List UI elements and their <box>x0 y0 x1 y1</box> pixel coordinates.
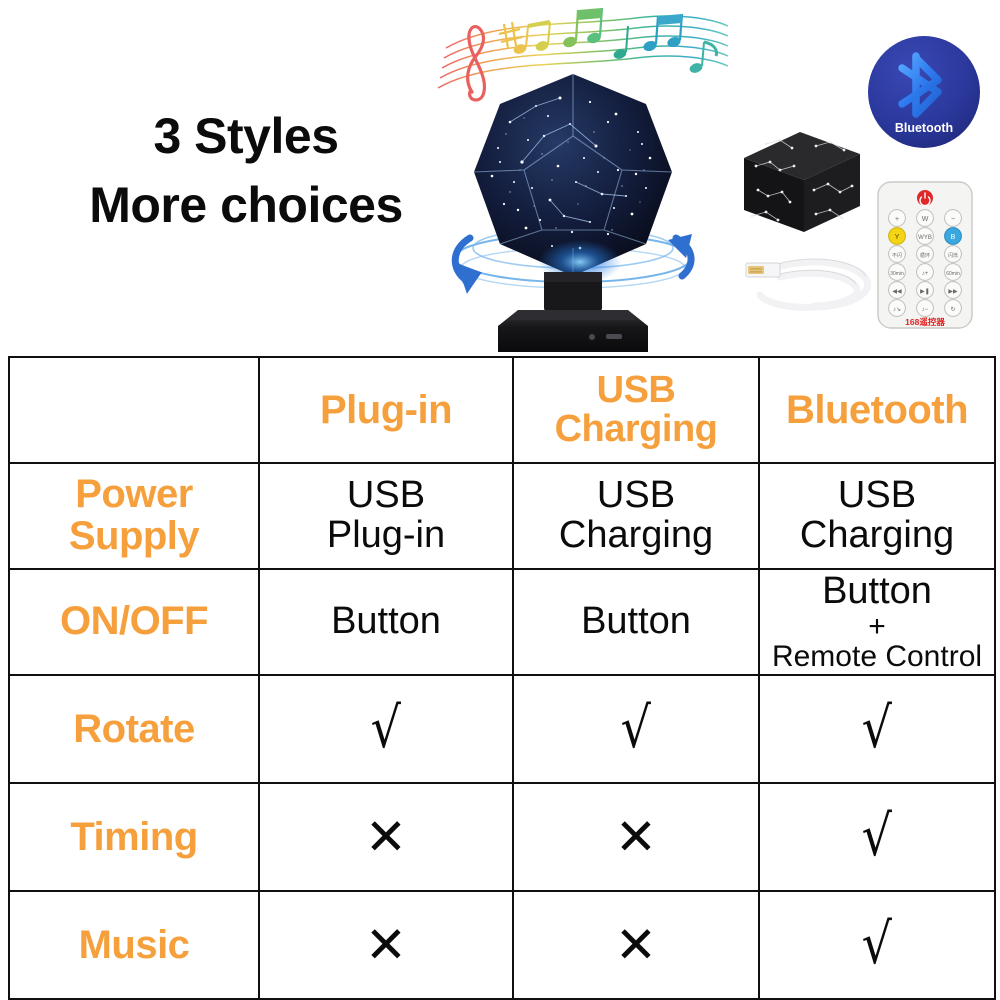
svg-text:−: − <box>951 216 955 223</box>
table-row-power-supply: Power Supply USB Plug-in USB Charging US… <box>9 463 995 569</box>
cell-power-plugin-line1: USB <box>264 476 508 516</box>
column-header-usb-charging-line1: USB <box>518 371 754 410</box>
remote-control: + W − Y WYB B 不闪 循环 闪烁 30min ♪+ 60min ◀◀… <box>872 180 978 332</box>
row-label-on-off-text: ON/OFF <box>60 599 208 643</box>
check-icon: √ <box>371 701 401 757</box>
hero-banner: 3 Styles More choices <box>0 0 1000 352</box>
headline-line-2: More choices <box>46 171 446 240</box>
check-icon: √ <box>862 917 892 973</box>
comparison-table: Plug-in USB Charging Bluetooth Power Sup… <box>8 356 996 1000</box>
svg-text:◀◀: ◀◀ <box>892 289 902 295</box>
row-label-timing-text: Timing <box>70 815 197 859</box>
svg-text:168遥控器: 168遥控器 <box>905 317 945 327</box>
cell-onoff-bt-line1: Button <box>764 572 990 612</box>
cross-icon: ✕ <box>615 920 657 970</box>
constellation-gift-box <box>736 124 868 242</box>
svg-text:♪+: ♪+ <box>922 271 929 277</box>
check-icon: √ <box>862 809 892 865</box>
cell-rotate-usb-charging: √ <box>513 675 759 783</box>
svg-text:♪↘: ♪↘ <box>893 307 901 313</box>
star-projector-lamp <box>440 62 706 352</box>
svg-text:60min: 60min <box>946 271 960 277</box>
cell-power-supply-usb-charging: USB Charging <box>513 463 759 569</box>
check-icon: √ <box>862 701 892 757</box>
svg-text:WYB: WYB <box>918 235 932 241</box>
table-row-rotate: Rotate √ √ √ <box>9 675 995 783</box>
cell-power-supply-plug-in: USB Plug-in <box>259 463 513 569</box>
svg-text:W: W <box>922 216 929 223</box>
column-header-bluetooth-label: Bluetooth <box>786 388 968 432</box>
cell-on-off-usb-charging: Button <box>513 569 759 675</box>
row-label-rotate-text: Rotate <box>73 707 194 751</box>
check-icon: √ <box>621 701 651 757</box>
column-header-usb-charging-line2: Charging <box>518 410 754 449</box>
svg-text:▶❚: ▶❚ <box>920 288 930 295</box>
cell-power-supply-bluetooth: USB Charging <box>759 463 995 569</box>
table-row-timing: Timing ✕ ✕ √ <box>9 783 995 891</box>
svg-text:不闪: 不闪 <box>892 252 902 259</box>
cell-timing-bluetooth: √ <box>759 783 995 891</box>
row-label-timing: Timing <box>9 783 259 891</box>
cell-timing-plug-in: ✕ <box>259 783 513 891</box>
column-header-plug-in: Plug-in <box>259 357 513 463</box>
cross-icon: ✕ <box>615 812 657 862</box>
cell-rotate-plug-in: √ <box>259 675 513 783</box>
svg-text:30min: 30min <box>890 271 904 277</box>
svg-text:▶▶: ▶▶ <box>948 289 958 295</box>
cell-onoff-usb-text: Button <box>581 600 691 642</box>
cell-onoff-bt-plus: + <box>764 612 990 642</box>
svg-text:B: B <box>951 234 956 241</box>
cell-power-usb-line2: Charging <box>518 516 754 556</box>
row-label-power-supply: Power Supply <box>9 463 259 569</box>
svg-text:Bluetooth: Bluetooth <box>895 121 953 135</box>
headline-line-1: 3 Styles <box>46 102 446 171</box>
cell-on-off-plug-in: Button <box>259 569 513 675</box>
cross-icon: ✕ <box>365 812 407 862</box>
row-label-music: Music <box>9 891 259 999</box>
row-label-rotate: Rotate <box>9 675 259 783</box>
cell-power-bt-line1: USB <box>764 476 990 516</box>
column-header-bluetooth: Bluetooth <box>759 357 995 463</box>
table-corner-cell <box>9 357 259 463</box>
cell-onoff-bt-line3: Remote Control <box>764 642 990 673</box>
usb-cable <box>744 243 876 325</box>
table-row-on-off: ON/OFF Button Button Button + Remote Con… <box>9 569 995 675</box>
cell-on-off-bluetooth: Button + Remote Control <box>759 569 995 675</box>
row-label-music-text: Music <box>79 923 190 967</box>
svg-text:+: + <box>895 216 899 223</box>
svg-text:循环: 循环 <box>920 252 930 259</box>
cell-music-usb-charging: ✕ <box>513 891 759 999</box>
cell-power-bt-line2: Charging <box>764 516 990 556</box>
column-header-usb-charging: USB Charging <box>513 357 759 463</box>
cell-timing-usb-charging: ✕ <box>513 783 759 891</box>
table-header-row: Plug-in USB Charging Bluetooth <box>9 357 995 463</box>
row-label-power-supply-line2: Supply <box>14 516 254 558</box>
svg-text:闪烁: 闪烁 <box>948 252 958 259</box>
column-header-plug-in-label: Plug-in <box>320 388 452 432</box>
cross-icon: ✕ <box>365 920 407 970</box>
cell-rotate-bluetooth: √ <box>759 675 995 783</box>
cell-power-usb-line1: USB <box>518 476 754 516</box>
cell-power-plugin-line2: Plug-in <box>264 516 508 556</box>
page-title: 3 Styles More choices <box>46 102 446 240</box>
svg-text:Y: Y <box>895 234 900 241</box>
table-row-music: Music ✕ ✕ √ <box>9 891 995 999</box>
svg-text:↻: ↻ <box>950 306 955 313</box>
cell-onoff-plugin-text: Button <box>331 600 441 642</box>
bluetooth-badge: Bluetooth <box>866 34 982 150</box>
row-label-power-supply-line1: Power <box>14 474 254 516</box>
cell-music-plug-in: ✕ <box>259 891 513 999</box>
svg-text:♪−: ♪− <box>922 307 929 313</box>
cell-music-bluetooth: √ <box>759 891 995 999</box>
row-label-on-off: ON/OFF <box>9 569 259 675</box>
